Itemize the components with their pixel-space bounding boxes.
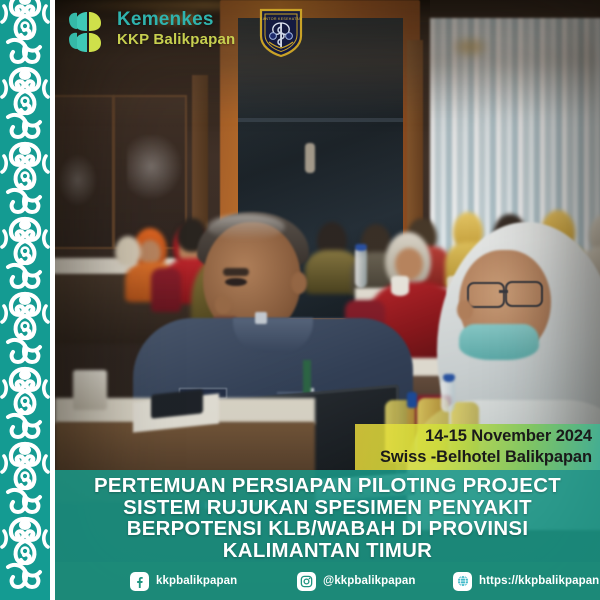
event-date: 14-15 November 2024: [425, 427, 592, 446]
instagram-handle: @kkpbalikpapan: [323, 575, 416, 587]
title-line-2: SISTEM RUJUKAN SPESIMEN PENYAKIT: [55, 498, 600, 520]
social-facebook[interactable]: kkpbalikpapan: [130, 572, 237, 591]
facebook-icon: [130, 572, 149, 591]
kemenkes-wordmark: Kemenkes KKP Balikpapan: [117, 10, 235, 47]
title-line-4: KALIMANTAN TIMUR: [55, 541, 600, 563]
header-logo-bar: Kemenkes KKP Balikpapan KANTOR KESEHATAN: [55, 0, 600, 62]
unit-name: KKP Balikpapan: [117, 32, 235, 47]
instagram-icon: [297, 572, 316, 591]
title-line-3: BERPOTENSI KLB/WABAH DI PROVINSI: [55, 519, 600, 541]
ministry-name: Kemenkes: [117, 10, 235, 29]
poster-canvas: Kemenkes KKP Balikpapan KANTOR KESEHATAN…: [0, 0, 600, 600]
svg-text:KANTOR KESEHATAN: KANTOR KESEHATAN: [260, 17, 302, 21]
globe-website-icon: [453, 572, 472, 591]
facebook-handle: kkpbalikpapan: [156, 575, 237, 587]
website-url: https://kkpbalikpapan.id: [479, 575, 600, 587]
social-instagram[interactable]: @kkpbalikpapan: [297, 572, 416, 591]
event-title-block: PERTEMUAN PERSIAPAN PILOTING PROJECT SIS…: [55, 470, 600, 562]
title-line-1: PERTEMUAN PERSIAPAN PILOTING PROJECT: [55, 476, 600, 498]
date-venue-banner: 14-15 November 2024 Swiss -Belhotel Bali…: [355, 424, 600, 470]
event-venue: Swiss -Belhotel Balikpapan: [380, 448, 592, 467]
kemenkes-clover-logo: [67, 9, 113, 53]
social-website[interactable]: https://kkpbalikpapan.id: [453, 572, 600, 591]
kkp-shield-badge-icon: KANTOR KESEHATAN: [255, 6, 307, 58]
batik-border-ornament: [0, 0, 50, 600]
social-media-bar: kkpbalikpapan @kkpbalikpapan: [55, 562, 600, 600]
